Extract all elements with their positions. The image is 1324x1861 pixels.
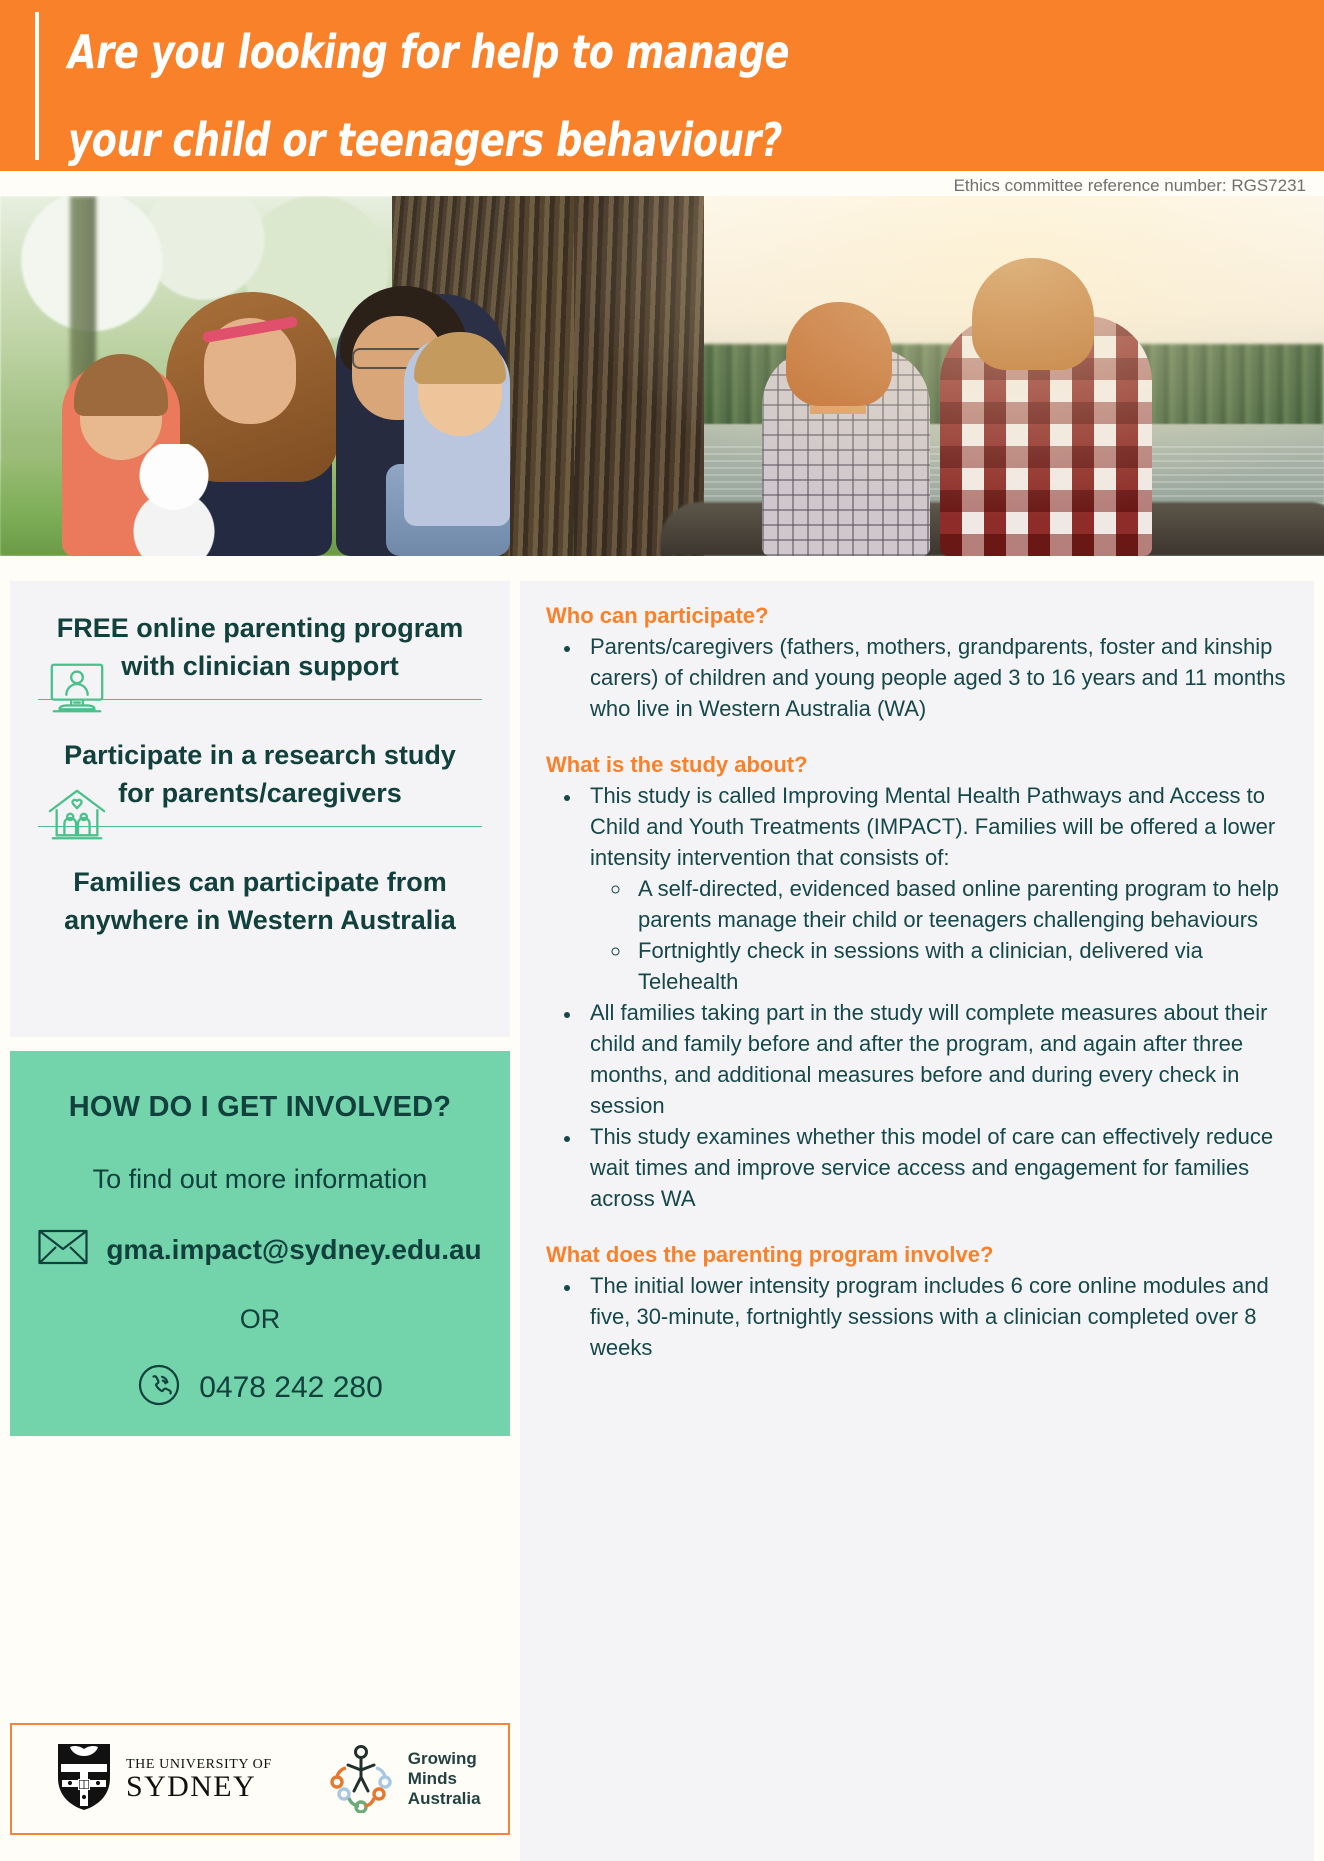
list-item-text: This study is called Improving Mental He…	[590, 783, 1275, 870]
partner-wordmark-line-2: Minds	[408, 1769, 457, 1788]
university-of-sydney-logo: THE UNIVERSITY OF SYDNEY	[56, 1742, 272, 1817]
list-item: Parents/caregivers (fathers, mothers, gr…	[582, 631, 1300, 724]
photo-strip	[0, 196, 1324, 556]
section-heading-what-is-the-study-about: What is the study about?	[546, 752, 1300, 778]
contact-email[interactable]: gma.impact@sydney.edu.au	[106, 1234, 481, 1266]
bullet-list-what-does-the-program-involve: The initial lower intensity program incl…	[534, 1270, 1300, 1363]
poster-title-line-1: Are you looking for help to manage	[68, 8, 1012, 96]
family-picnic-photo	[0, 196, 510, 556]
university-wordmark: THE UNIVERSITY OF SYDNEY	[126, 1756, 272, 1802]
photo-sun-glow	[510, 196, 1324, 556]
contact-subtitle: To find out more information	[36, 1164, 484, 1195]
highlight-text-3: Families can participate from anywhere i…	[32, 863, 488, 939]
poster-title: Are you looking for help to manage your …	[68, 8, 1012, 184]
logo-footer: THE UNIVERSITY OF SYDNEY	[10, 1723, 510, 1835]
highlights-panel: FREE online parenting program with clini…	[10, 581, 510, 1037]
ethics-reference: Ethics committee reference number: RGS72…	[954, 174, 1306, 198]
phone-circle-icon	[137, 1363, 181, 1412]
sub-list-item: Fortnightly check in sessions with a cli…	[632, 935, 1300, 997]
contact-panel: HOW DO I GET INVOLVED? To find out more …	[10, 1051, 510, 1436]
growing-minds-australia-logo: Growing Minds Australia	[324, 1741, 481, 1818]
usyd-shield-icon	[56, 1742, 112, 1817]
list-item: This study examines whether this model o…	[582, 1121, 1300, 1214]
poster-header: Are you looking for help to manage your …	[0, 0, 1324, 171]
bullet-list-who-can-participate: Parents/caregivers (fathers, mothers, gr…	[534, 631, 1300, 724]
partner-wordmark-line-1: Growing	[408, 1749, 477, 1768]
poster-title-line-2: your child or teenagers behaviour?	[68, 96, 1012, 184]
house-family-icon	[46, 784, 108, 846]
information-panel: Who can participate? Parents/caregivers …	[520, 581, 1314, 1861]
sub-bullet-list: A self-directed, evidenced based online …	[590, 873, 1300, 997]
section-heading-who-can-participate: Who can participate?	[546, 603, 1300, 629]
section-heading-what-does-the-program-involve: What does the parenting program involve?	[546, 1242, 1300, 1268]
partner-wordmark-line-3: Australia	[408, 1789, 481, 1808]
partner-wordmark: Growing Minds Australia	[408, 1749, 481, 1809]
list-item: All families taking part in the study wi…	[582, 997, 1300, 1121]
university-wordmark-bottom: SYDNEY	[126, 1770, 256, 1803]
highlight-item-1: FREE online parenting program with clini…	[32, 609, 488, 700]
envelope-icon	[38, 1229, 88, 1270]
photo-plush-toy	[128, 444, 220, 556]
left-column: FREE online parenting program with clini…	[10, 581, 510, 1436]
contact-or-label: OR	[36, 1304, 484, 1335]
bullet-list-what-is-the-study-about: This study is called Improving Mental He…	[534, 780, 1300, 1214]
list-item: This study is called Improving Mental He…	[582, 780, 1300, 997]
contact-email-row[interactable]: gma.impact@sydney.edu.au	[36, 1229, 484, 1270]
sub-list-item: A self-directed, evidenced based online …	[632, 873, 1300, 935]
monitor-person-icon	[46, 657, 108, 719]
highlight-item-2: Participate in a research study for pare…	[32, 736, 488, 827]
parent-teen-lakeside-photo	[510, 196, 1324, 556]
contact-phone-row[interactable]: 0478 242 280	[36, 1363, 484, 1412]
highlight-item-3: Families can participate from anywhere i…	[32, 863, 488, 939]
list-item: The initial lower intensity program incl…	[582, 1270, 1300, 1363]
contact-phone[interactable]: 0478 242 280	[199, 1371, 383, 1405]
header-accent-bar	[35, 12, 39, 160]
contact-title: HOW DO I GET INVOLVED?	[36, 1091, 484, 1124]
growing-minds-icon	[324, 1741, 398, 1818]
